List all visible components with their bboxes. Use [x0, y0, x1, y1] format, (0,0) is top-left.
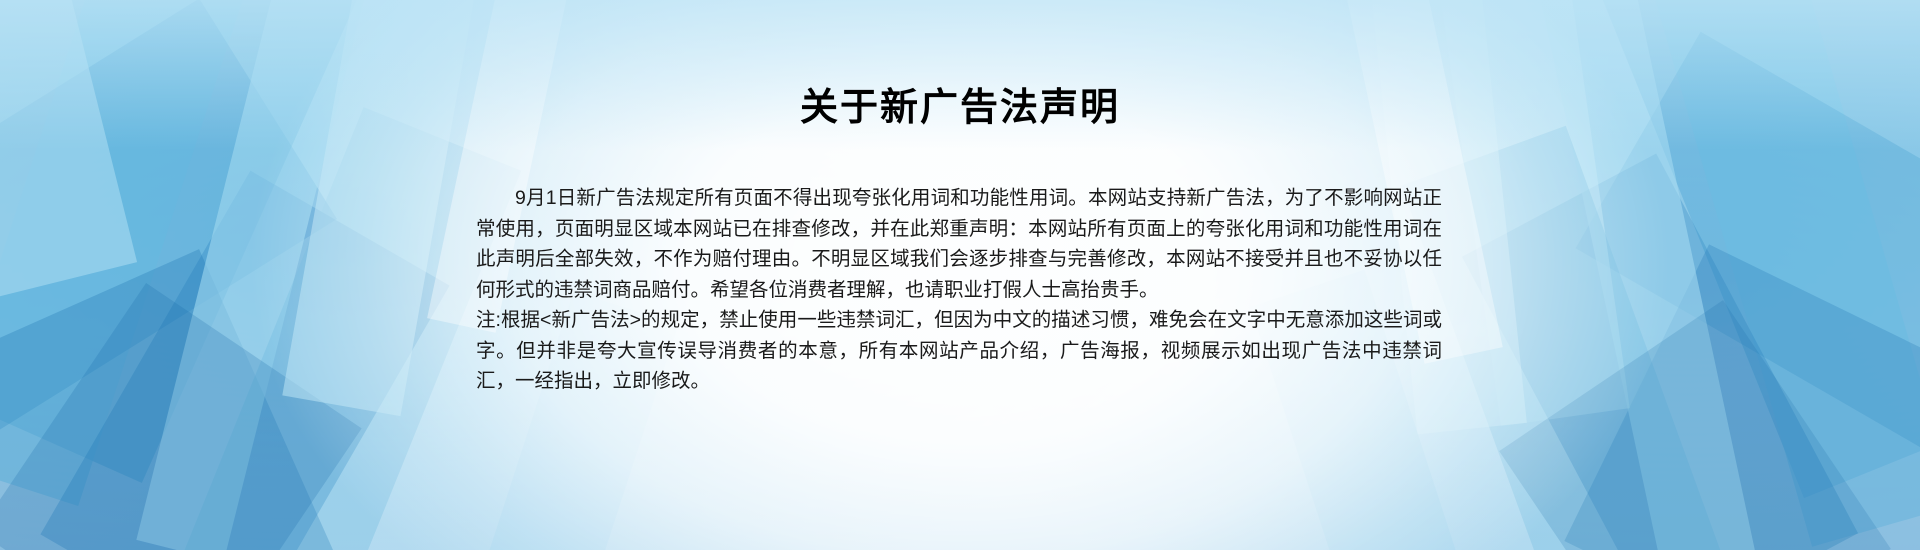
statement-body: 9月1日新广告法规定所有页面不得出现夸张化用词和功能性用词。本网站支持新广告法，…: [476, 183, 1442, 397]
statement-content: 关于新广告法声明 9月1日新广告法规定所有页面不得出现夸张化用词和功能性用词。本…: [460, 0, 1460, 550]
statement-paragraph-main: 9月1日新广告法规定所有页面不得出现夸张化用词和功能性用词。本网站支持新广告法，…: [476, 183, 1442, 305]
statement-paragraph-note: 注:根据<新广告法>的规定，禁止使用一些违禁词汇，但因为中文的描述习惯，难免会在…: [476, 305, 1442, 397]
banner-root: 关于新广告法声明 9月1日新广告法规定所有页面不得出现夸张化用词和功能性用词。本…: [0, 0, 1920, 550]
page-title: 关于新广告法声明: [460, 86, 1460, 132]
